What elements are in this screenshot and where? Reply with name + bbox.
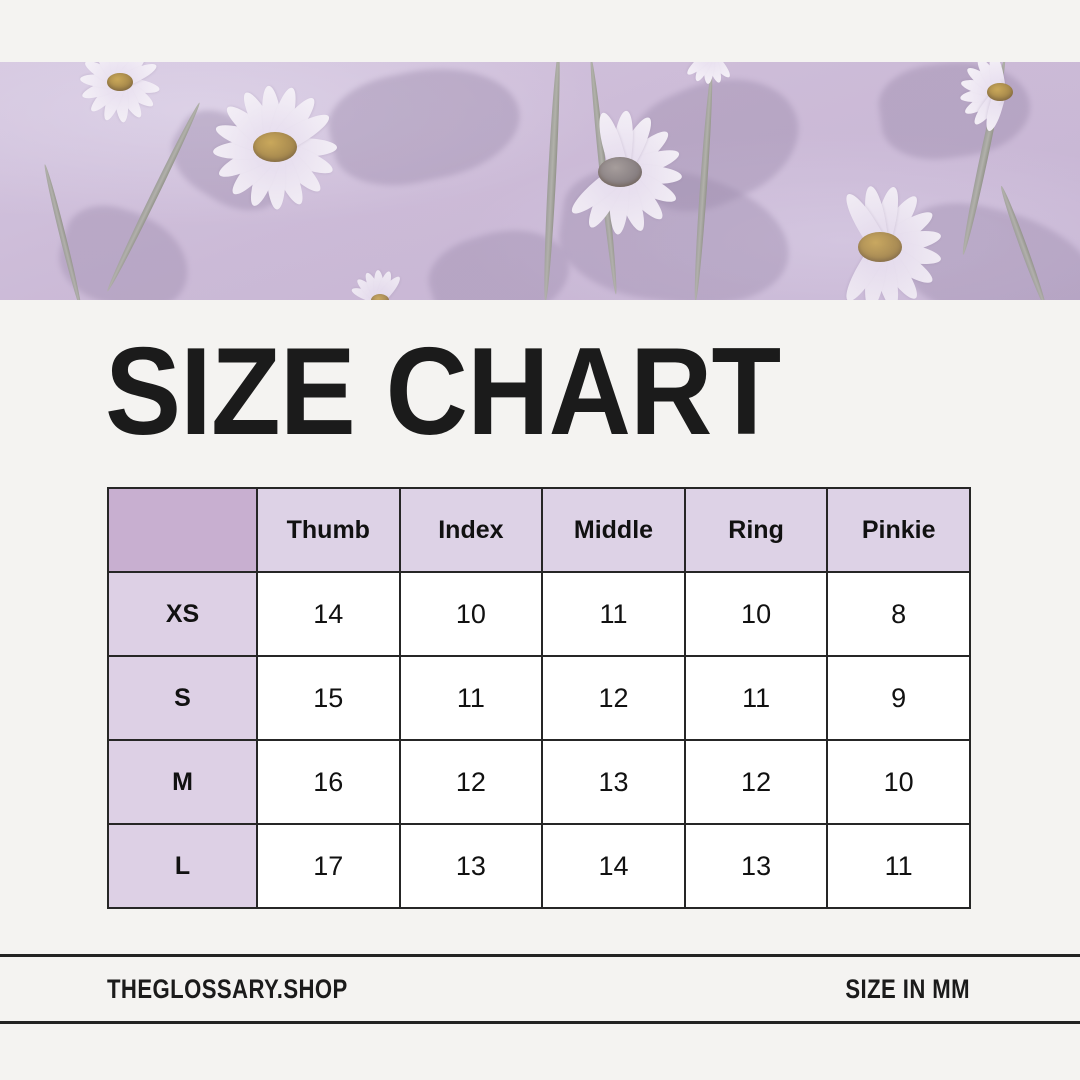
row-header-s: S [108,656,257,740]
cell-xs-ring: 10 [685,572,828,656]
cell-l-middle: 14 [542,824,685,908]
cell-m-pinkie: 10 [827,740,970,824]
footer-rule-bottom [0,1021,1080,1024]
table-row: M 16 12 13 12 10 [108,740,970,824]
cell-xs-pinkie: 8 [827,572,970,656]
cell-m-index: 12 [400,740,543,824]
cell-xs-middle: 11 [542,572,685,656]
table-header-row: Thumb Index Middle Ring Pinkie [108,488,970,572]
column-header-thumb: Thumb [257,488,400,572]
column-header-pinkie: Pinkie [827,488,970,572]
cell-m-ring: 12 [685,740,828,824]
cell-xs-thumb: 14 [257,572,400,656]
row-header-xs: XS [108,572,257,656]
cell-l-thumb: 17 [257,824,400,908]
cell-l-index: 13 [400,824,543,908]
cell-xs-index: 10 [400,572,543,656]
column-header-ring: Ring [685,488,828,572]
page-title: SIZE CHART [105,330,780,454]
row-header-m: M [108,740,257,824]
footer-brand: THEGLOSSARY.SHOP [107,974,348,1005]
table-row: L 17 13 14 13 11 [108,824,970,908]
cell-s-index: 11 [400,656,543,740]
column-header-index: Index [400,488,543,572]
footer-unit-note: SIZE IN MM [845,974,970,1005]
cell-s-pinkie: 9 [827,656,970,740]
footer-rule-top [0,954,1080,957]
row-header-l: L [108,824,257,908]
table-corner-cell [108,488,257,572]
cell-l-ring: 13 [685,824,828,908]
cell-m-thumb: 16 [257,740,400,824]
size-chart-table: Thumb Index Middle Ring Pinkie XS 14 10 … [107,487,971,909]
column-header-middle: Middle [542,488,685,572]
cell-m-middle: 13 [542,740,685,824]
cell-s-ring: 11 [685,656,828,740]
table-row: XS 14 10 11 10 8 [108,572,970,656]
table-row: S 15 11 12 11 9 [108,656,970,740]
cell-s-middle: 12 [542,656,685,740]
hero-image-band [0,62,1080,300]
cell-s-thumb: 15 [257,656,400,740]
cell-l-pinkie: 11 [827,824,970,908]
